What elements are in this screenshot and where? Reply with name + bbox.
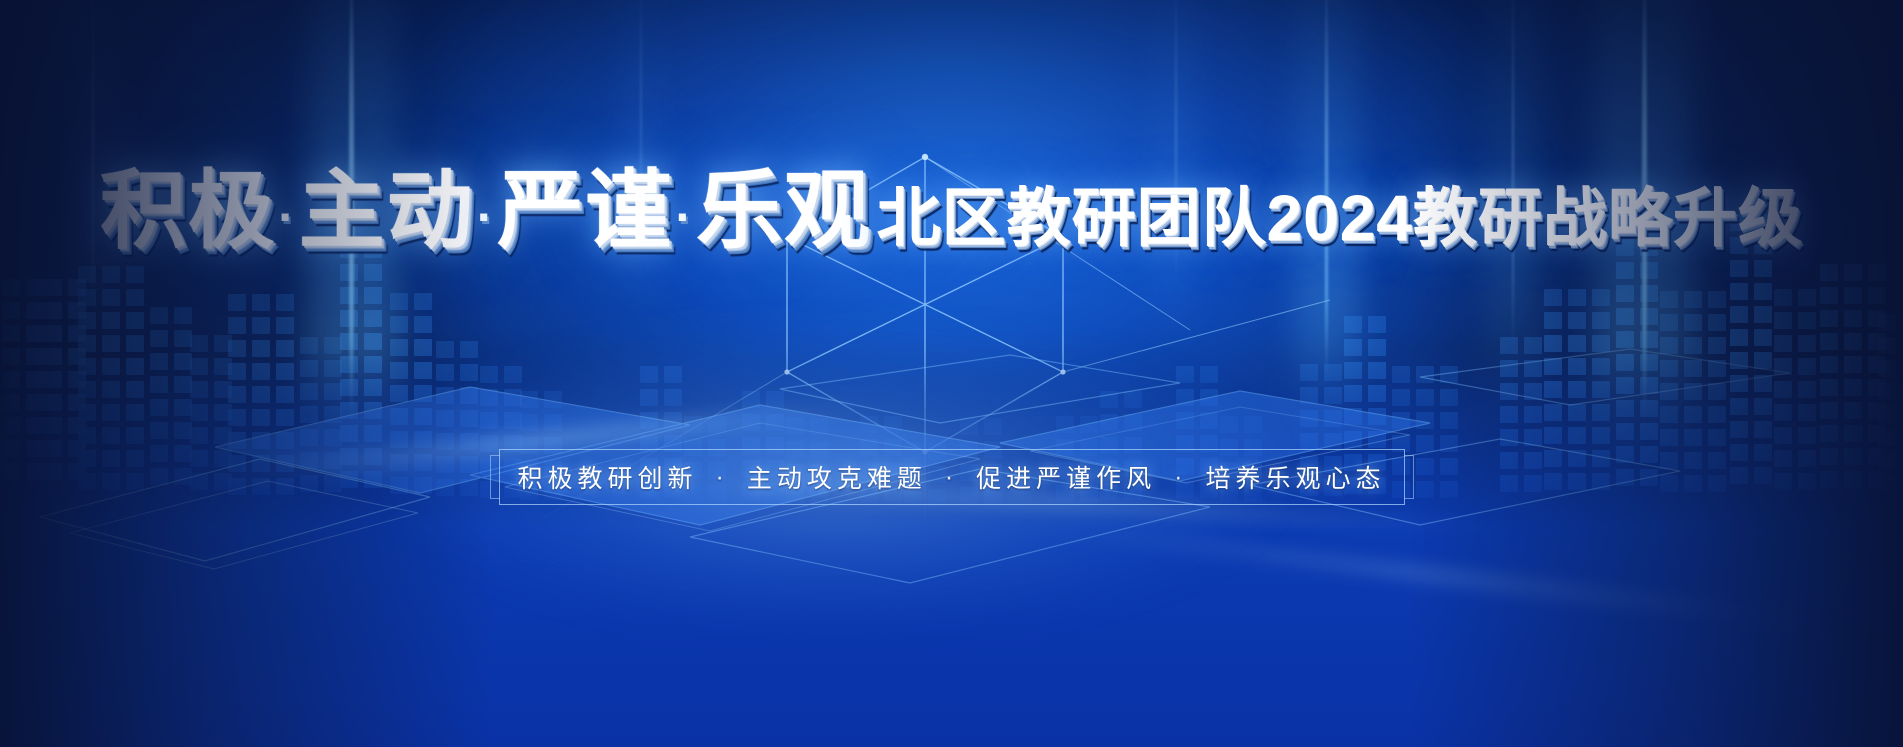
edge-vignette: [0, 0, 1903, 747]
promo-banner: 积极·主动·严谨·乐观 北区教研团队2024教研战略升级 积极教研创新 · 主动…: [0, 0, 1903, 747]
